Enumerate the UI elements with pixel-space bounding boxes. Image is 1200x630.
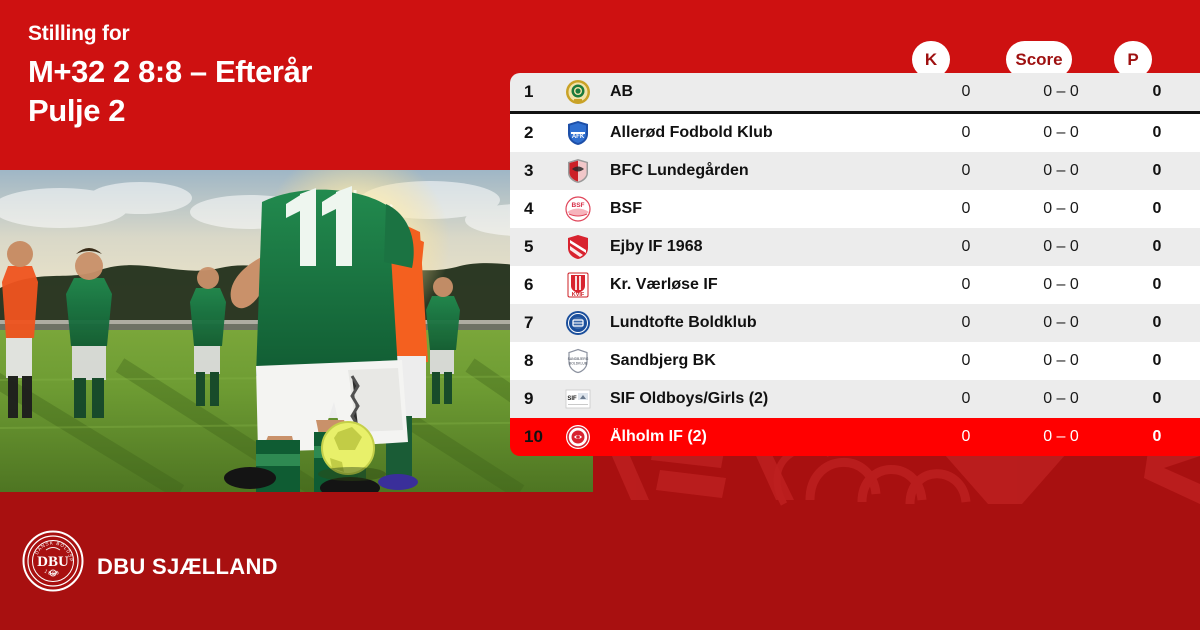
row-points: 0 bbox=[1114, 162, 1200, 180]
svg-text:DBU: DBU bbox=[37, 554, 69, 570]
hero-photo bbox=[0, 170, 593, 492]
row-team: Kr. Værløse IF bbox=[600, 276, 924, 294]
dbu-seal-icon: DANSK BOLDSPIL UNION 1889 DBU bbox=[22, 530, 84, 592]
row-k: 0 bbox=[924, 83, 1008, 101]
row-k: 0 bbox=[924, 124, 1008, 142]
bsf-logo: BSF bbox=[565, 196, 591, 222]
table-row[interactable]: 10Ålholm IF (2)00 – 00 bbox=[510, 418, 1200, 456]
row-rank: 8 bbox=[510, 351, 556, 371]
footer-organisation: DBU SJÆLLAND bbox=[97, 554, 278, 580]
row-score: 0 – 0 bbox=[1008, 200, 1114, 218]
table-row[interactable]: 8SANDBJERGBOLDKLUBSandbjerg BK00 – 00 bbox=[510, 342, 1200, 380]
row-points: 0 bbox=[1114, 83, 1200, 101]
row-team: Allerød Fodbold Klub bbox=[600, 124, 924, 142]
table-row[interactable]: 5Ejby IF 196800 – 00 bbox=[510, 228, 1200, 266]
page-title-line1: M+32 2 8:8 – Efterår bbox=[28, 52, 498, 91]
row-k: 0 bbox=[924, 314, 1008, 332]
table-row[interactable]: 9SIFSIF Oldboys/Girls (2)00 – 00 bbox=[510, 380, 1200, 418]
kvif-logo: KVIF bbox=[565, 272, 591, 298]
row-k: 0 bbox=[924, 276, 1008, 294]
standings-table: 1AB00 – 002AFKAllerød Fodbold Klub00 – 0… bbox=[510, 73, 1200, 456]
row-score: 0 – 0 bbox=[1008, 314, 1114, 332]
row-points: 0 bbox=[1114, 390, 1200, 408]
row-team: AB bbox=[600, 83, 924, 101]
row-k: 0 bbox=[924, 200, 1008, 218]
club-logo bbox=[556, 234, 600, 260]
football-scene-illustration bbox=[0, 170, 593, 492]
aalholm-logo bbox=[565, 424, 591, 450]
row-team: Ålholm IF (2) bbox=[600, 428, 924, 446]
table-row[interactable]: 4BSFBSF00 – 00 bbox=[510, 190, 1200, 228]
dbu-logo: DANSK BOLDSPIL UNION 1889 DBU bbox=[22, 530, 84, 597]
row-k: 0 bbox=[924, 428, 1008, 446]
club-logo bbox=[556, 158, 600, 184]
row-points: 0 bbox=[1114, 314, 1200, 332]
club-logo: AFK bbox=[556, 120, 600, 146]
row-rank: 4 bbox=[510, 199, 556, 219]
row-points: 0 bbox=[1114, 124, 1200, 142]
row-team: BSF bbox=[600, 200, 924, 218]
row-score: 0 – 0 bbox=[1008, 162, 1114, 180]
row-k: 0 bbox=[924, 390, 1008, 408]
row-points: 0 bbox=[1114, 352, 1200, 370]
sif-logo: SIF bbox=[565, 386, 591, 412]
header-kicker: Stilling for bbox=[28, 22, 129, 46]
table-row[interactable]: 7Lundtofte Boldklub00 – 00 bbox=[510, 304, 1200, 342]
row-k: 0 bbox=[924, 238, 1008, 256]
bfc-logo bbox=[565, 158, 591, 184]
row-score: 0 – 0 bbox=[1008, 83, 1114, 101]
row-points: 0 bbox=[1114, 428, 1200, 446]
footer: DANSK BOLDSPIL UNION 1889 DBU DBU SJÆLLA… bbox=[0, 492, 1200, 630]
row-rank: 5 bbox=[510, 237, 556, 257]
club-logo: KVIF bbox=[556, 272, 600, 298]
table-row[interactable]: 2AFKAllerød Fodbold Klub00 – 00 bbox=[510, 114, 1200, 152]
ejby-logo bbox=[565, 234, 591, 260]
row-k: 0 bbox=[924, 162, 1008, 180]
row-rank: 10 bbox=[510, 427, 556, 447]
row-score: 0 – 0 bbox=[1008, 124, 1114, 142]
row-rank: 1 bbox=[510, 82, 556, 102]
row-score: 0 – 0 bbox=[1008, 276, 1114, 294]
row-rank: 3 bbox=[510, 161, 556, 181]
row-score: 0 – 0 bbox=[1008, 352, 1114, 370]
row-team: Lundtofte Boldklub bbox=[600, 314, 924, 332]
row-score: 0 – 0 bbox=[1008, 390, 1114, 408]
svg-text:BOLDKLUB: BOLDKLUB bbox=[569, 362, 588, 366]
table-row[interactable]: 6KVIFKr. Værløse IF00 – 00 bbox=[510, 266, 1200, 304]
standings-graphic: Stilling for M+32 2 8:8 – Efterår Pulje … bbox=[0, 0, 1200, 630]
row-points: 0 bbox=[1114, 200, 1200, 218]
svg-text:BSF: BSF bbox=[572, 202, 585, 209]
table-row[interactable]: 1AB00 – 00 bbox=[510, 73, 1200, 114]
page-title: M+32 2 8:8 – Efterår Pulje 2 bbox=[28, 52, 498, 130]
row-team: Sandbjerg BK bbox=[600, 352, 924, 370]
row-points: 0 bbox=[1114, 276, 1200, 294]
row-score: 0 – 0 bbox=[1008, 428, 1114, 446]
row-rank: 2 bbox=[510, 123, 556, 143]
row-rank: 6 bbox=[510, 275, 556, 295]
lundtofte-logo bbox=[565, 310, 591, 336]
row-team: BFC Lundegården bbox=[600, 162, 924, 180]
club-logo bbox=[556, 310, 600, 336]
sandbjerg-logo: SANDBJERGBOLDKLUB bbox=[565, 348, 591, 374]
row-team: Ejby IF 1968 bbox=[600, 238, 924, 256]
club-logo: SANDBJERGBOLDKLUB bbox=[556, 348, 600, 374]
svg-text:AFK: AFK bbox=[572, 134, 585, 140]
club-logo bbox=[556, 424, 600, 450]
row-k: 0 bbox=[924, 352, 1008, 370]
svg-text:SIF: SIF bbox=[567, 396, 577, 402]
svg-text:SANDBJERG: SANDBJERG bbox=[568, 357, 589, 361]
row-team: SIF Oldboys/Girls (2) bbox=[600, 390, 924, 408]
club-logo: SIF bbox=[556, 386, 600, 412]
row-rank: 9 bbox=[510, 389, 556, 409]
table-row[interactable]: 3BFC Lundegården00 – 00 bbox=[510, 152, 1200, 190]
club-logo bbox=[556, 79, 600, 105]
club-logo: BSF bbox=[556, 196, 600, 222]
row-points: 0 bbox=[1114, 238, 1200, 256]
row-rank: 7 bbox=[510, 313, 556, 333]
row-score: 0 – 0 bbox=[1008, 238, 1114, 256]
page-title-line2: Pulje 2 bbox=[28, 91, 498, 130]
ab-logo bbox=[565, 79, 591, 105]
svg-text:KVIF: KVIF bbox=[572, 292, 585, 298]
afk-logo: AFK bbox=[565, 120, 591, 146]
